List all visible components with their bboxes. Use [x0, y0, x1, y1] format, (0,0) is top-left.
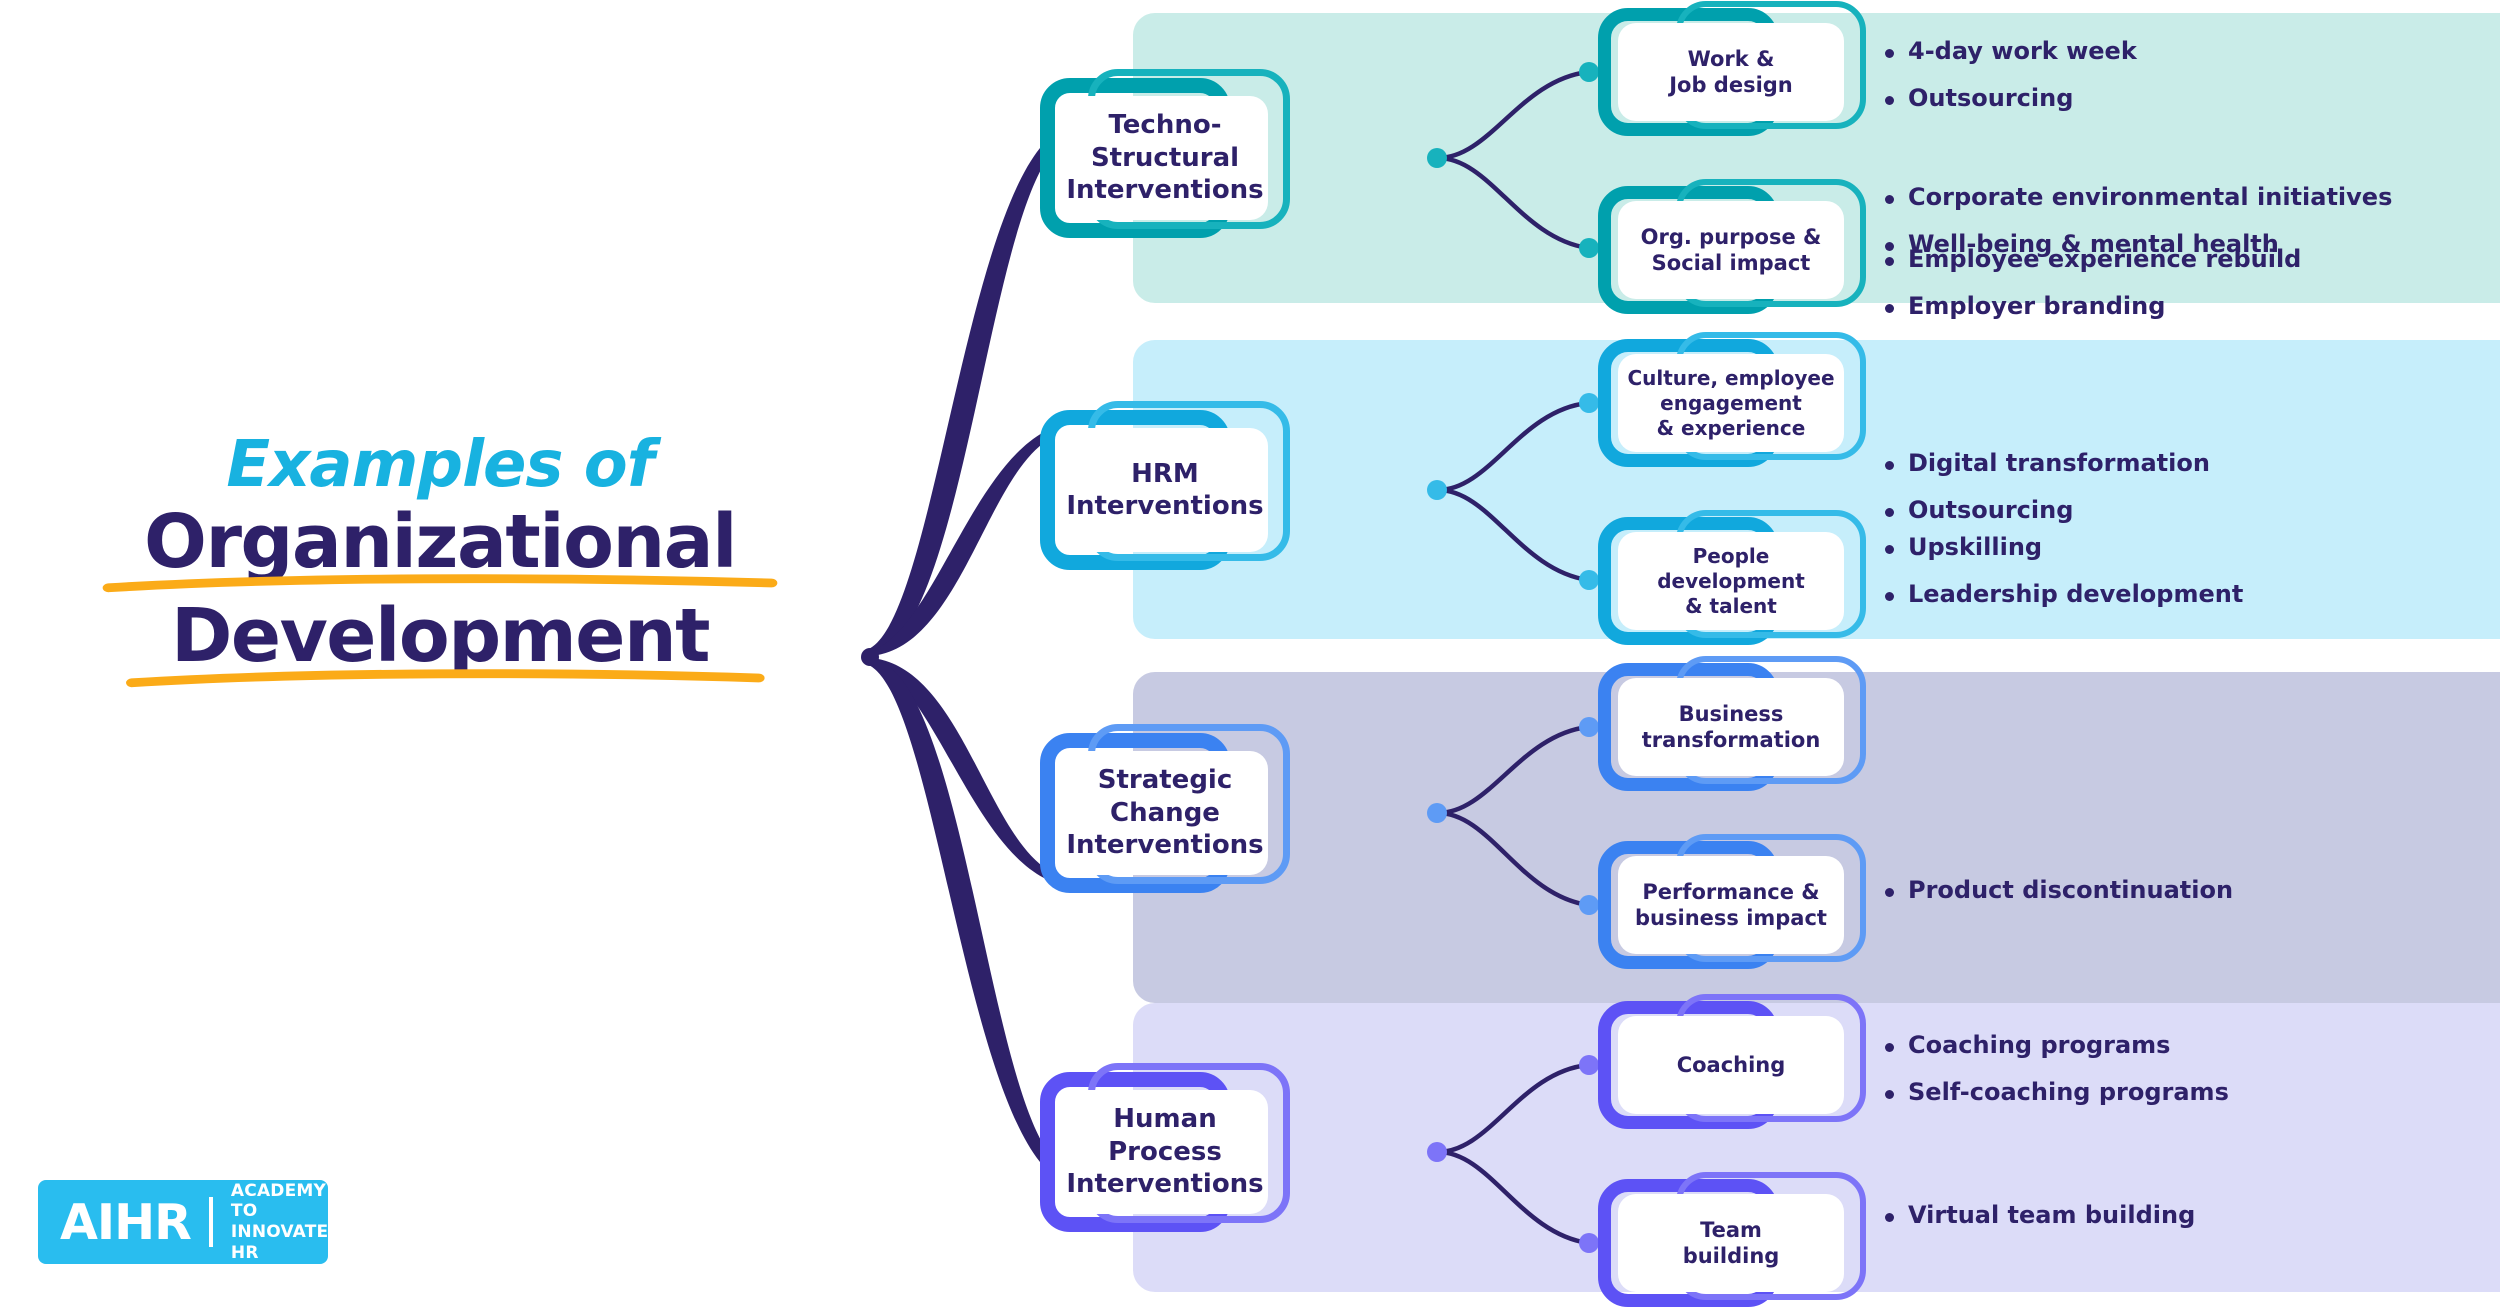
label-line-1: Human Process	[1108, 1104, 1222, 1167]
card-face: Techno-Structural Interventions	[1062, 96, 1268, 220]
infographic-canvas: Examples of Organizational Development A…	[0, 0, 2500, 1307]
card-face: Team building	[1618, 1194, 1844, 1292]
bullet-list-work-job-design: 4-day work week Outsourcing	[1885, 36, 2137, 113]
sub-card-label: Culture, employee engagement & experienc…	[1627, 366, 1834, 441]
sub-card-coaching[interactable]: Coaching	[1598, 1001, 1866, 1129]
list-item-text: Employer branding	[1908, 291, 2165, 322]
main-card-techno-structural[interactable]: Techno-Structural Interventions	[1040, 78, 1290, 238]
bullet-list-team-building: Virtual team building	[1885, 1200, 2195, 1231]
label-line-1: Business	[1679, 702, 1784, 726]
logo-divider	[209, 1197, 213, 1247]
label-line-1: People	[1693, 544, 1770, 568]
aihr-logo: AIHR ACADEMY TO INNOVATE HR	[38, 1180, 328, 1264]
list-item-text: Digital transformation	[1908, 448, 2210, 479]
label-line-1: Team	[1700, 1218, 1762, 1242]
label-line-1: Techno-Structural	[1091, 110, 1239, 173]
list-item: Outsourcing	[1885, 83, 2137, 114]
list-item: Outsourcing	[1885, 495, 2210, 526]
list-item: Employee experience rebuild	[1885, 244, 2301, 275]
sub-card-label: Work & Job design	[1669, 46, 1793, 99]
bullet-dot-icon	[1885, 888, 1894, 897]
list-item-text: Outsourcing	[1908, 83, 2073, 114]
main-card-human-process[interactable]: Human Process Interventions	[1040, 1072, 1290, 1232]
list-item: Upskilling	[1885, 532, 2243, 563]
label-line-3: & experience	[1657, 416, 1806, 440]
sub-card-label: People development & talent	[1657, 544, 1805, 619]
title-line-1-text: Organizational	[144, 499, 736, 585]
label-line-1: Culture, employee	[1627, 366, 1834, 390]
card-face: Work & Job design	[1618, 23, 1844, 121]
label-line-1: Work &	[1688, 47, 1775, 71]
bullet-dot-icon	[1885, 1090, 1894, 1099]
title-underline-2	[100, 670, 780, 686]
label-line-2: Social impact	[1652, 251, 1811, 275]
main-card-label: HRM Interventions	[1066, 458, 1263, 523]
label-line-1: Strategic Change	[1098, 765, 1233, 828]
list-item: Coaching programs	[1885, 1030, 2229, 1061]
label-line-2: building	[1683, 1244, 1780, 1268]
list-item-text: Leadership development	[1908, 579, 2243, 610]
bullet-dot-icon	[1885, 1213, 1894, 1222]
card-face: Business transformation	[1618, 678, 1844, 776]
list-item: Self-coaching programs	[1885, 1077, 2229, 1108]
list-item-text: Product discontinuation	[1908, 875, 2233, 906]
title-underline-1	[100, 575, 780, 591]
sub-card-people-development-talent[interactable]: People development & talent	[1598, 517, 1866, 645]
bullet-list-business-transformation: Digital transformation Outsourcing	[1885, 448, 2210, 525]
list-item: Employer branding	[1885, 291, 2301, 322]
list-item: Virtual team building	[1885, 1200, 2195, 1231]
label-line-1: HRM	[1131, 459, 1199, 489]
label-line-2: Interventions	[1066, 1169, 1263, 1199]
sub-card-label: Coaching	[1677, 1052, 1786, 1078]
label-line-2: business impact	[1635, 906, 1827, 930]
label-line-2: Job design	[1669, 73, 1793, 97]
sub-card-label: Org. purpose & Social impact	[1641, 224, 1822, 277]
card-face: Performance & business impact	[1618, 856, 1844, 954]
bullet-list-coaching: Coaching programs Self-coaching programs	[1885, 1030, 2229, 1107]
bullet-dot-icon	[1885, 257, 1894, 266]
card-face: HRM Interventions	[1062, 428, 1268, 552]
logo-brand: AIHR	[60, 1198, 191, 1247]
title-line-2: Development	[100, 593, 780, 680]
label-line-2: development	[1657, 569, 1805, 593]
list-item-text: Self-coaching programs	[1908, 1077, 2229, 1108]
list-item-text: Upskilling	[1908, 532, 2042, 563]
list-item: Corporate environmental initiatives	[1885, 182, 2392, 213]
list-item-text: 4-day work week	[1908, 36, 2137, 67]
list-item: 4-day work week	[1885, 36, 2137, 67]
bullet-dot-icon	[1885, 195, 1894, 204]
bullet-dot-icon	[1885, 304, 1894, 313]
sub-card-label: Performance & business impact	[1635, 879, 1827, 932]
sub-card-label: Team building	[1683, 1217, 1780, 1270]
list-item-text: Outsourcing	[1908, 495, 2073, 526]
bullet-dot-icon	[1885, 592, 1894, 601]
sub-card-team-building[interactable]: Team building	[1598, 1179, 1866, 1307]
sub-card-performance-business-impact[interactable]: Performance & business impact	[1598, 841, 1866, 969]
label-line-2: engagement	[1660, 391, 1802, 415]
main-card-hrm[interactable]: HRM Interventions	[1040, 410, 1290, 570]
bullet-list-people-development-talent: Upskilling Leadership development	[1885, 532, 2243, 609]
list-item-text: Employee experience rebuild	[1908, 244, 2301, 275]
main-card-strategic-change[interactable]: Strategic Change Interventions	[1040, 733, 1290, 893]
list-item: Product discontinuation	[1885, 875, 2233, 906]
bullet-dot-icon	[1885, 545, 1894, 554]
bullet-dot-icon	[1885, 49, 1894, 58]
title-line-1: Organizational	[100, 499, 780, 586]
card-face: Culture, employee engagement & experienc…	[1618, 354, 1844, 452]
sub-card-work-job-design[interactable]: Work & Job design	[1598, 8, 1866, 136]
logo-tagline: ACADEMY TO INNOVATE HR	[231, 1181, 328, 1264]
card-face: Coaching	[1618, 1016, 1844, 1114]
bullet-dot-icon	[1885, 96, 1894, 105]
list-item: Digital transformation	[1885, 448, 2210, 479]
logo-tagline-line-1: ACADEMY TO	[231, 1181, 328, 1222]
list-item-text: Virtual team building	[1908, 1200, 2195, 1231]
card-face: Strategic Change Interventions	[1062, 751, 1268, 875]
label-line-1: Coaching	[1677, 1053, 1786, 1077]
label-line-2: transformation	[1642, 728, 1821, 752]
bullet-dot-icon	[1885, 508, 1894, 517]
card-face: Human Process Interventions	[1062, 1090, 1268, 1214]
label-line-2: Interventions	[1066, 491, 1263, 521]
bullet-dot-icon	[1885, 1043, 1894, 1052]
bullet-dot-icon	[1885, 461, 1894, 470]
label-line-3: & talent	[1685, 594, 1777, 618]
label-line-2: Interventions	[1066, 175, 1263, 205]
list-item-text: Corporate environmental initiatives	[1908, 182, 2392, 213]
main-card-label: Strategic Change Interventions	[1062, 764, 1268, 862]
sub-card-label: Business transformation	[1642, 701, 1821, 754]
label-line-1: Org. purpose &	[1641, 225, 1822, 249]
label-line-1: Performance &	[1642, 880, 1819, 904]
logo-tagline-line-2: INNOVATE HR	[231, 1222, 328, 1263]
title-line-2-text: Development	[171, 593, 709, 679]
card-face: Org. purpose & Social impact	[1618, 201, 1844, 299]
label-line-2: Interventions	[1066, 830, 1263, 860]
sub-card-culture-engagement-experience[interactable]: Culture, employee engagement & experienc…	[1598, 339, 1866, 467]
main-card-label: Human Process Interventions	[1062, 1103, 1268, 1201]
list-item: Leadership development	[1885, 579, 2243, 610]
bullet-list-performance-business-impact: Product discontinuation	[1885, 875, 2233, 906]
main-card-label: Techno-Structural Interventions	[1062, 109, 1268, 207]
sub-card-business-transformation[interactable]: Business transformation	[1598, 663, 1866, 791]
page-title: Examples of Organizational Development	[100, 432, 780, 680]
list-item-text: Coaching programs	[1908, 1030, 2170, 1061]
sub-card-org-purpose-social-impact[interactable]: Org. purpose & Social impact	[1598, 186, 1866, 314]
bullet-list-culture-engagement-experience: Employee experience rebuild Employer bra…	[1885, 244, 2301, 321]
card-face: People development & talent	[1618, 532, 1844, 630]
title-kicker: Examples of	[100, 432, 780, 499]
